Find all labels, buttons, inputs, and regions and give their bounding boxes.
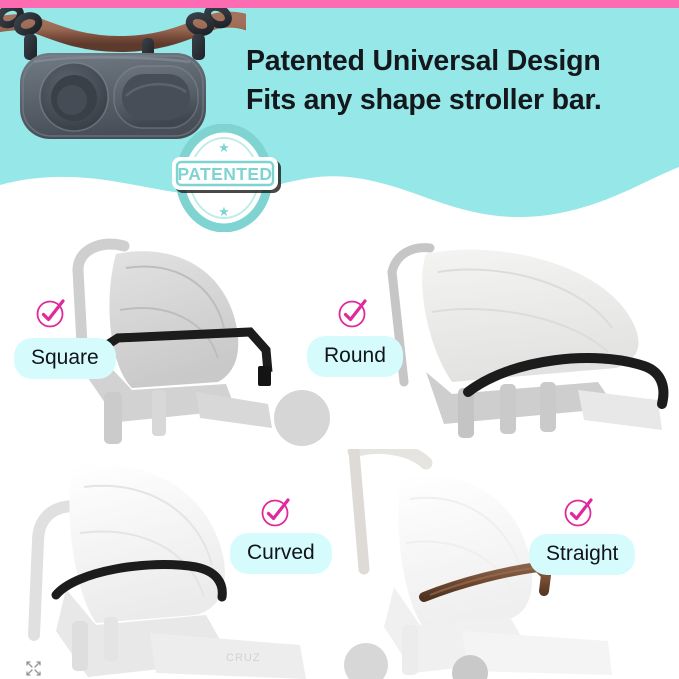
hero-heading-line-2: Fits any shape stroller bar.: [246, 81, 666, 120]
fit-label-round: Round: [307, 336, 403, 377]
badge-star-top: ★: [218, 140, 230, 155]
fit-label-curved: Curved: [230, 533, 332, 574]
patented-badge: ★ ★ PATENTED: [164, 124, 288, 232]
check-circle-icon-round: [336, 296, 370, 330]
check-circle-icon-straight: [562, 495, 596, 529]
expand-fullscreen-icon[interactable]: [26, 661, 41, 676]
fit-label-straight: Straight: [529, 534, 635, 575]
fit-label-square: Square: [14, 338, 116, 379]
infographic-canvas: Patented Universal Design Fits any shape…: [0, 0, 679, 679]
stroller-brand-text: CRUZ: [226, 652, 261, 664]
hero-heading-line-1: Patented Universal Design: [246, 42, 666, 81]
check-circle-icon-curved: [259, 495, 293, 529]
top-accent-bar: [0, 0, 679, 8]
badge-text: PATENTED: [178, 164, 273, 184]
check-circle-icon-square: [34, 296, 68, 330]
hero-heading: Patented Universal Design Fits any shape…: [246, 42, 666, 120]
badge-star-bottom: ★: [218, 204, 230, 219]
